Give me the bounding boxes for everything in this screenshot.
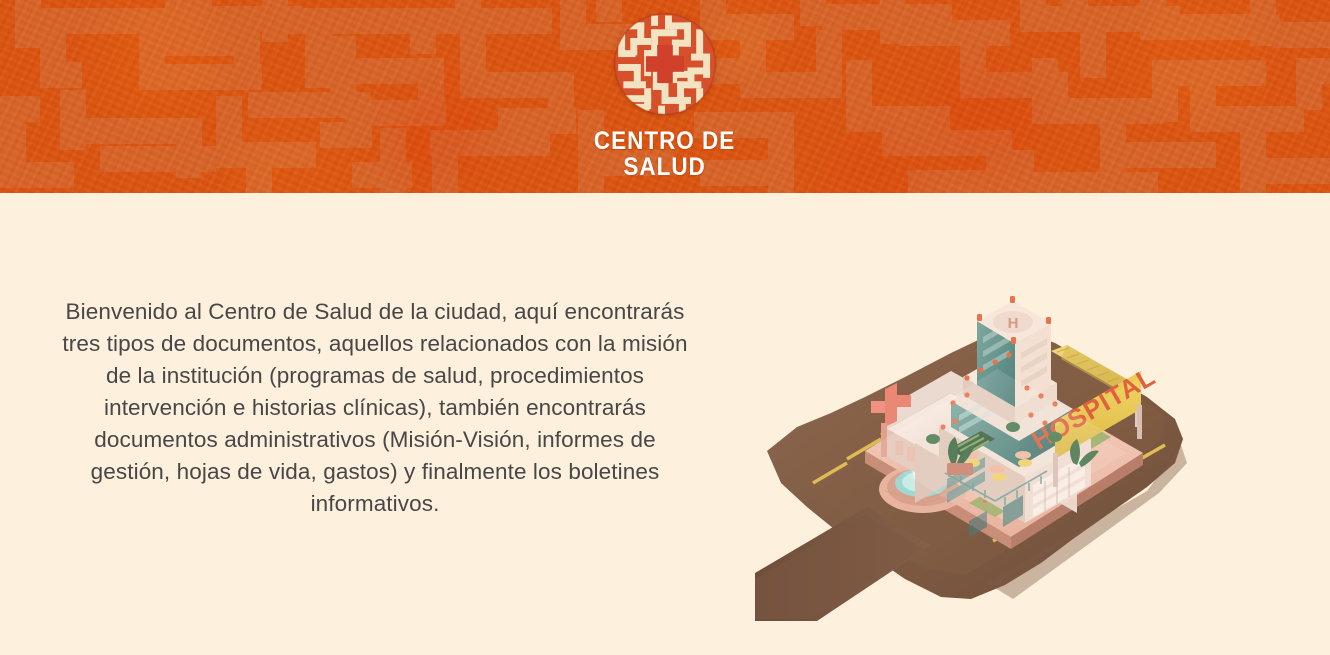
maze-circle-with-red-cross-icon bbox=[613, 12, 717, 116]
brand-name: CENTRO DE SALUD bbox=[594, 128, 735, 180]
main-content: Bienvenido al Centro de Salud de la ciud… bbox=[0, 193, 1330, 655]
page-root: CENTRO DE SALUD Bienvenido al Centro de … bbox=[0, 0, 1330, 655]
site-header: CENTRO DE SALUD bbox=[0, 0, 1330, 193]
intro-paragraph: Bienvenido al Centro de Salud de la ciud… bbox=[60, 296, 690, 520]
isometric-hospital-illustration: H bbox=[755, 201, 1215, 651]
helipad-label: H bbox=[1008, 315, 1019, 332]
brand-block: CENTRO DE SALUD bbox=[0, 12, 1330, 180]
